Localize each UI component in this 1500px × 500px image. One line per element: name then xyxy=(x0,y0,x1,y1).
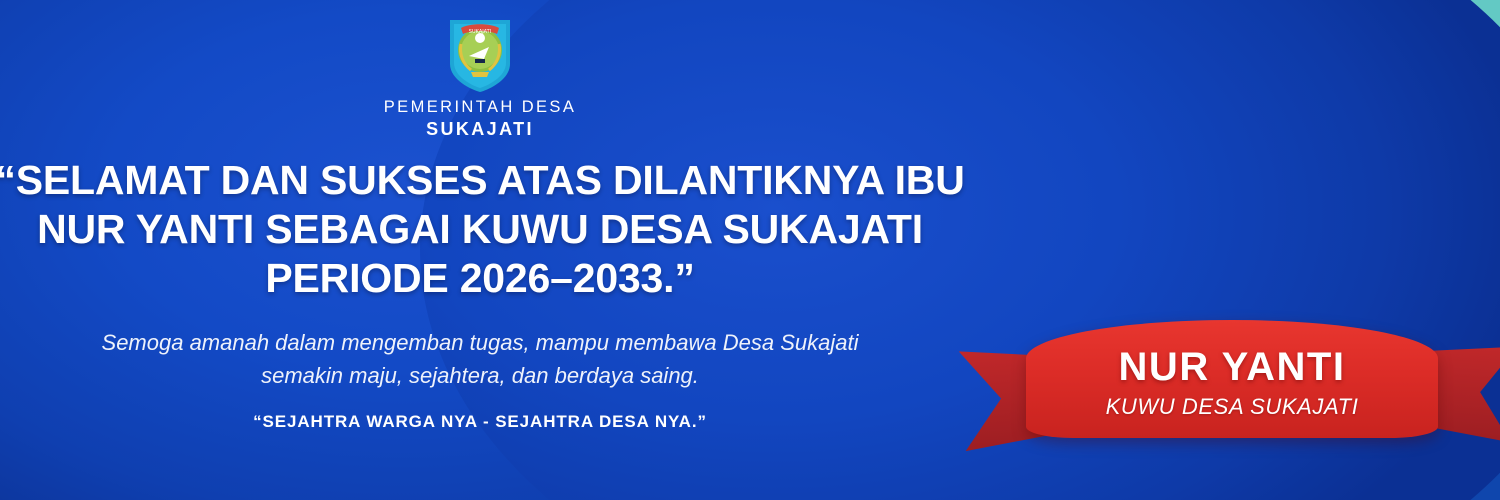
headline-line-1: “SELAMAT DAN SUKSES ATAS DILANTIKNYA IBU xyxy=(0,156,965,205)
government-logo-block: SUKAJATI PEMERINTAH DESA SUKAJATI xyxy=(384,14,576,140)
village-name-label: SUKAJATI xyxy=(426,119,534,140)
banner-content: SUKAJATI PEMERINTAH DESA SUKAJATI “SELAM… xyxy=(0,0,960,500)
subtext-line-1: Semoga amanah dalam mengemban tugas, mam… xyxy=(102,326,859,359)
village-crest-icon: SUKAJATI xyxy=(445,14,515,92)
congratulation-banner: NUR YANTI KUWU DESA SUKAJATI SUKAJATI PE… xyxy=(0,0,1500,500)
ribbon-person-name: NUR YANTI xyxy=(1119,347,1346,387)
ribbon-person-role: KUWU DESA SUKAJATI xyxy=(1106,394,1359,420)
ribbon-body: NUR YANTI KUWU DESA SUKAJATI xyxy=(1026,320,1438,438)
name-ribbon: NUR YANTI KUWU DESA SUKAJATI xyxy=(980,320,1500,500)
subtext-message: Semoga amanah dalam mengemban tugas, mam… xyxy=(102,326,859,393)
headline-line-2: NUR YANTI SEBAGAI KUWU DESA SUKAJATI xyxy=(0,205,965,254)
headline: “SELAMAT DAN SUKSES ATAS DILANTIKNYA IBU… xyxy=(0,156,965,304)
village-tagline: “SEJAHTRA WARGA NYA - SEJAHTRA DESA NYA.… xyxy=(253,412,707,432)
headline-line-3: PERIODE 2026–2033.” xyxy=(0,254,965,303)
subtext-line-2: semakin maju, sejahtera, dan berdaya sai… xyxy=(102,359,859,392)
svg-text:SUKAJATI: SUKAJATI xyxy=(469,29,491,35)
government-label: PEMERINTAH DESA xyxy=(384,98,576,117)
